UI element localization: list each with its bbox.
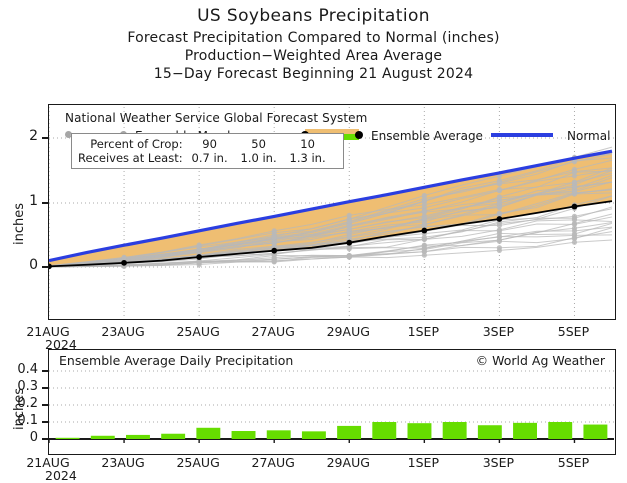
title-block: US Soybeans Precipitation Forecast Preci… <box>0 0 627 82</box>
legend-source: National Weather Service Global Forecast… <box>65 111 605 125</box>
bottom-ytick-0: 0 <box>4 430 38 445</box>
bottom-xtick-25AUG: 25AUG <box>170 455 226 470</box>
crop-amt-0: 0.7 in. <box>188 151 237 165</box>
legend-label-normal: Normal <box>567 129 610 143</box>
page-title: US Soybeans Precipitation <box>0 6 627 26</box>
main-ytick-0: 0 <box>8 257 38 273</box>
crop-row1-label: Percent of Crop: <box>78 137 188 151</box>
crop-pct-0: 90 <box>188 137 237 151</box>
copyright-credit: © World Ag Weather <box>476 353 605 368</box>
crop-pct-1: 50 <box>237 137 286 151</box>
crop-amt-1: 1.0 in. <box>237 151 286 165</box>
bottom-xtick-3SEP: 3SEP <box>470 455 526 470</box>
bottom-ytick-0_2: 0.2 <box>4 396 38 411</box>
main-ytick-mark-0 <box>42 266 49 268</box>
crop-pct-2: 10 <box>286 137 335 151</box>
bottom-xtick-27AUG: 27AUG <box>245 455 301 470</box>
main-xtick-1SEP: 1SEP <box>395 324 451 339</box>
bottom-ytick-0_3: 0.3 <box>4 379 38 394</box>
main-y-axis-label: inches <box>12 203 27 245</box>
bottom-xtick-1SEP: 1SEP <box>395 455 451 470</box>
crop-amt-2: 1.3 in. <box>286 151 335 165</box>
legend-label-average: Ensemble Average <box>371 129 483 143</box>
cumulative-precip-chart: National Weather Service Global Forecast… <box>48 104 616 320</box>
main-xtick-29AUG: 29AUG <box>320 324 376 339</box>
subtitle-2: Production−Weighted Area Average <box>0 48 627 64</box>
bottom-panel-caption: Ensemble Average Daily Precipitation <box>59 353 293 368</box>
bottom-ytick-0_4: 0.4 <box>4 362 38 377</box>
main-xtick-25AUG: 25AUG <box>170 324 226 339</box>
bottom-year-label: 2024 <box>45 468 77 483</box>
main-ytick-mark-2 <box>42 137 49 139</box>
percent-of-crop-box: Percent of Crop: 90 50 10 Receives at Le… <box>71 133 344 169</box>
bottom-ytick-mark-0_4 <box>42 370 49 372</box>
bottom-ytick-0_1: 0.1 <box>4 413 38 428</box>
bottom-xtick-5SEP: 5SEP <box>545 455 601 470</box>
subtitle-3: 15−Day Forecast Beginning 21 August 2024 <box>0 66 627 82</box>
main-xtick-3SEP: 3SEP <box>470 324 526 339</box>
bottom-xtick-23AUG: 23AUG <box>95 455 151 470</box>
main-xtick-5SEP: 5SEP <box>545 324 601 339</box>
main-ytick-2: 2 <box>8 128 38 144</box>
main-xtick-23AUG: 23AUG <box>95 324 151 339</box>
bottom-ytick-mark-0_2 <box>42 404 49 406</box>
bottom-ytick-mark-0_3 <box>42 387 49 389</box>
bottom-xtick-29AUG: 29AUG <box>320 455 376 470</box>
normal-line-marker-icon <box>491 130 553 140</box>
main-ytick-mark-1 <box>42 202 49 204</box>
daily-precip-chart: Ensemble Average Daily Precipitation © W… <box>48 349 616 455</box>
bottom-ytick-mark-0 <box>42 438 49 440</box>
main-year-label: 2024 <box>45 337 77 352</box>
subtitle-1: Forecast Precipitation Compared to Norma… <box>0 30 627 46</box>
main-xtick-27AUG: 27AUG <box>245 324 301 339</box>
main-ytick-1: 1 <box>8 193 38 209</box>
bottom-ytick-mark-0_1 <box>42 421 49 423</box>
crop-row2-label: Receives at Least: <box>78 151 188 165</box>
chart-page: US Soybeans Precipitation Forecast Preci… <box>0 0 627 483</box>
